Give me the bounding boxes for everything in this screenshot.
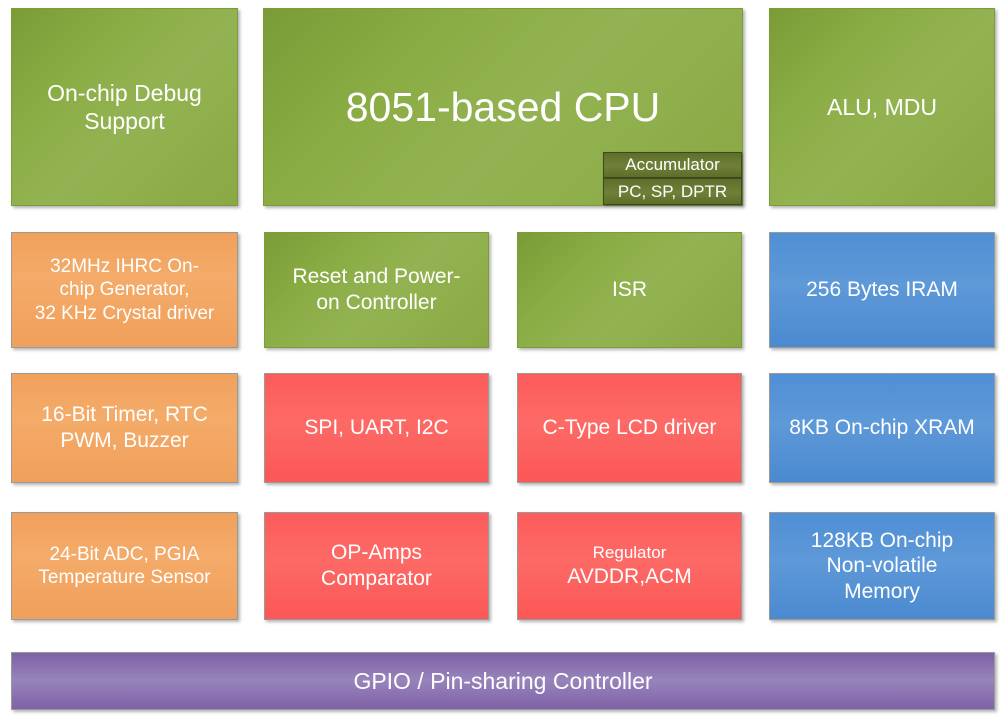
- block-label: SPI, UART, I2C: [271, 415, 482, 441]
- block-c-type-lcd-driver[interactable]: C-Type LCD driver: [517, 373, 742, 483]
- block-spi-uart-i2c[interactable]: SPI, UART, I2C: [264, 373, 489, 483]
- block-label: 16-Bit Timer, RTC PWM, Buzzer: [18, 402, 231, 453]
- register-accumulator[interactable]: Accumulator: [603, 152, 742, 178]
- register-label: Accumulator: [625, 155, 719, 175]
- block-label: OP-Amps Comparator: [271, 540, 482, 591]
- block-label: Reset and Power- on Controller: [271, 264, 482, 315]
- block-label: C-Type LCD driver: [524, 415, 735, 441]
- block-label: GPIO / Pin-sharing Controller: [18, 667, 988, 695]
- block-label: 32MHz IHRC On- chip Generator, 32 KHz Cr…: [18, 255, 231, 325]
- block-on-chip-debug-support[interactable]: On-chip Debug Support: [11, 8, 238, 206]
- block-label: 8KB On-chip XRAM: [776, 415, 988, 441]
- block-label: ALU, MDU: [776, 93, 988, 121]
- register-label: PC, SP, DPTR: [618, 182, 727, 202]
- block-op-amps-comparator[interactable]: OP-Amps Comparator: [264, 512, 489, 620]
- block-ihrc-generator[interactable]: 32MHz IHRC On- chip Generator, 32 KHz Cr…: [11, 232, 238, 348]
- block-timer-rtc-pwm-buzzer[interactable]: 16-Bit Timer, RTC PWM, Buzzer: [11, 373, 238, 483]
- block-8kb-on-chip-xram[interactable]: 8KB On-chip XRAM: [769, 373, 995, 483]
- block-gpio-pin-sharing-controller[interactable]: GPIO / Pin-sharing Controller: [11, 652, 995, 710]
- block-label: 24-Bit ADC, PGIA Temperature Sensor: [18, 543, 231, 589]
- block-label: 8051-based CPU: [270, 82, 736, 132]
- block-reset-power-on-controller[interactable]: Reset and Power- on Controller: [264, 232, 489, 348]
- block-label: 256 Bytes IRAM: [776, 277, 988, 303]
- block-alu-mdu[interactable]: ALU, MDU: [769, 8, 995, 206]
- register-pc-sp-dptr[interactable]: PC, SP, DPTR: [603, 178, 742, 205]
- block-label: On-chip Debug Support: [18, 79, 231, 135]
- block-128kb-non-volatile-memory[interactable]: 128KB On-chip Non-volatile Memory: [769, 512, 995, 620]
- block-isr[interactable]: ISR: [517, 232, 742, 348]
- block-256-bytes-iram[interactable]: 256 Bytes IRAM: [769, 232, 995, 348]
- cpu-register-stack: Accumulator PC, SP, DPTR: [603, 152, 742, 205]
- block-regulator-avddr-acm[interactable]: Regulator AVDDR,ACM: [517, 512, 742, 620]
- block-label: ISR: [524, 277, 735, 303]
- block-label: Regulator AVDDR,ACM: [524, 543, 735, 589]
- block-label: 128KB On-chip Non-volatile Memory: [776, 528, 988, 605]
- block-adc-pgia-temperature-sensor[interactable]: 24-Bit ADC, PGIA Temperature Sensor: [11, 512, 238, 620]
- block-diagram-canvas: On-chip Debug Support 8051-based CPU Acc…: [0, 0, 1006, 717]
